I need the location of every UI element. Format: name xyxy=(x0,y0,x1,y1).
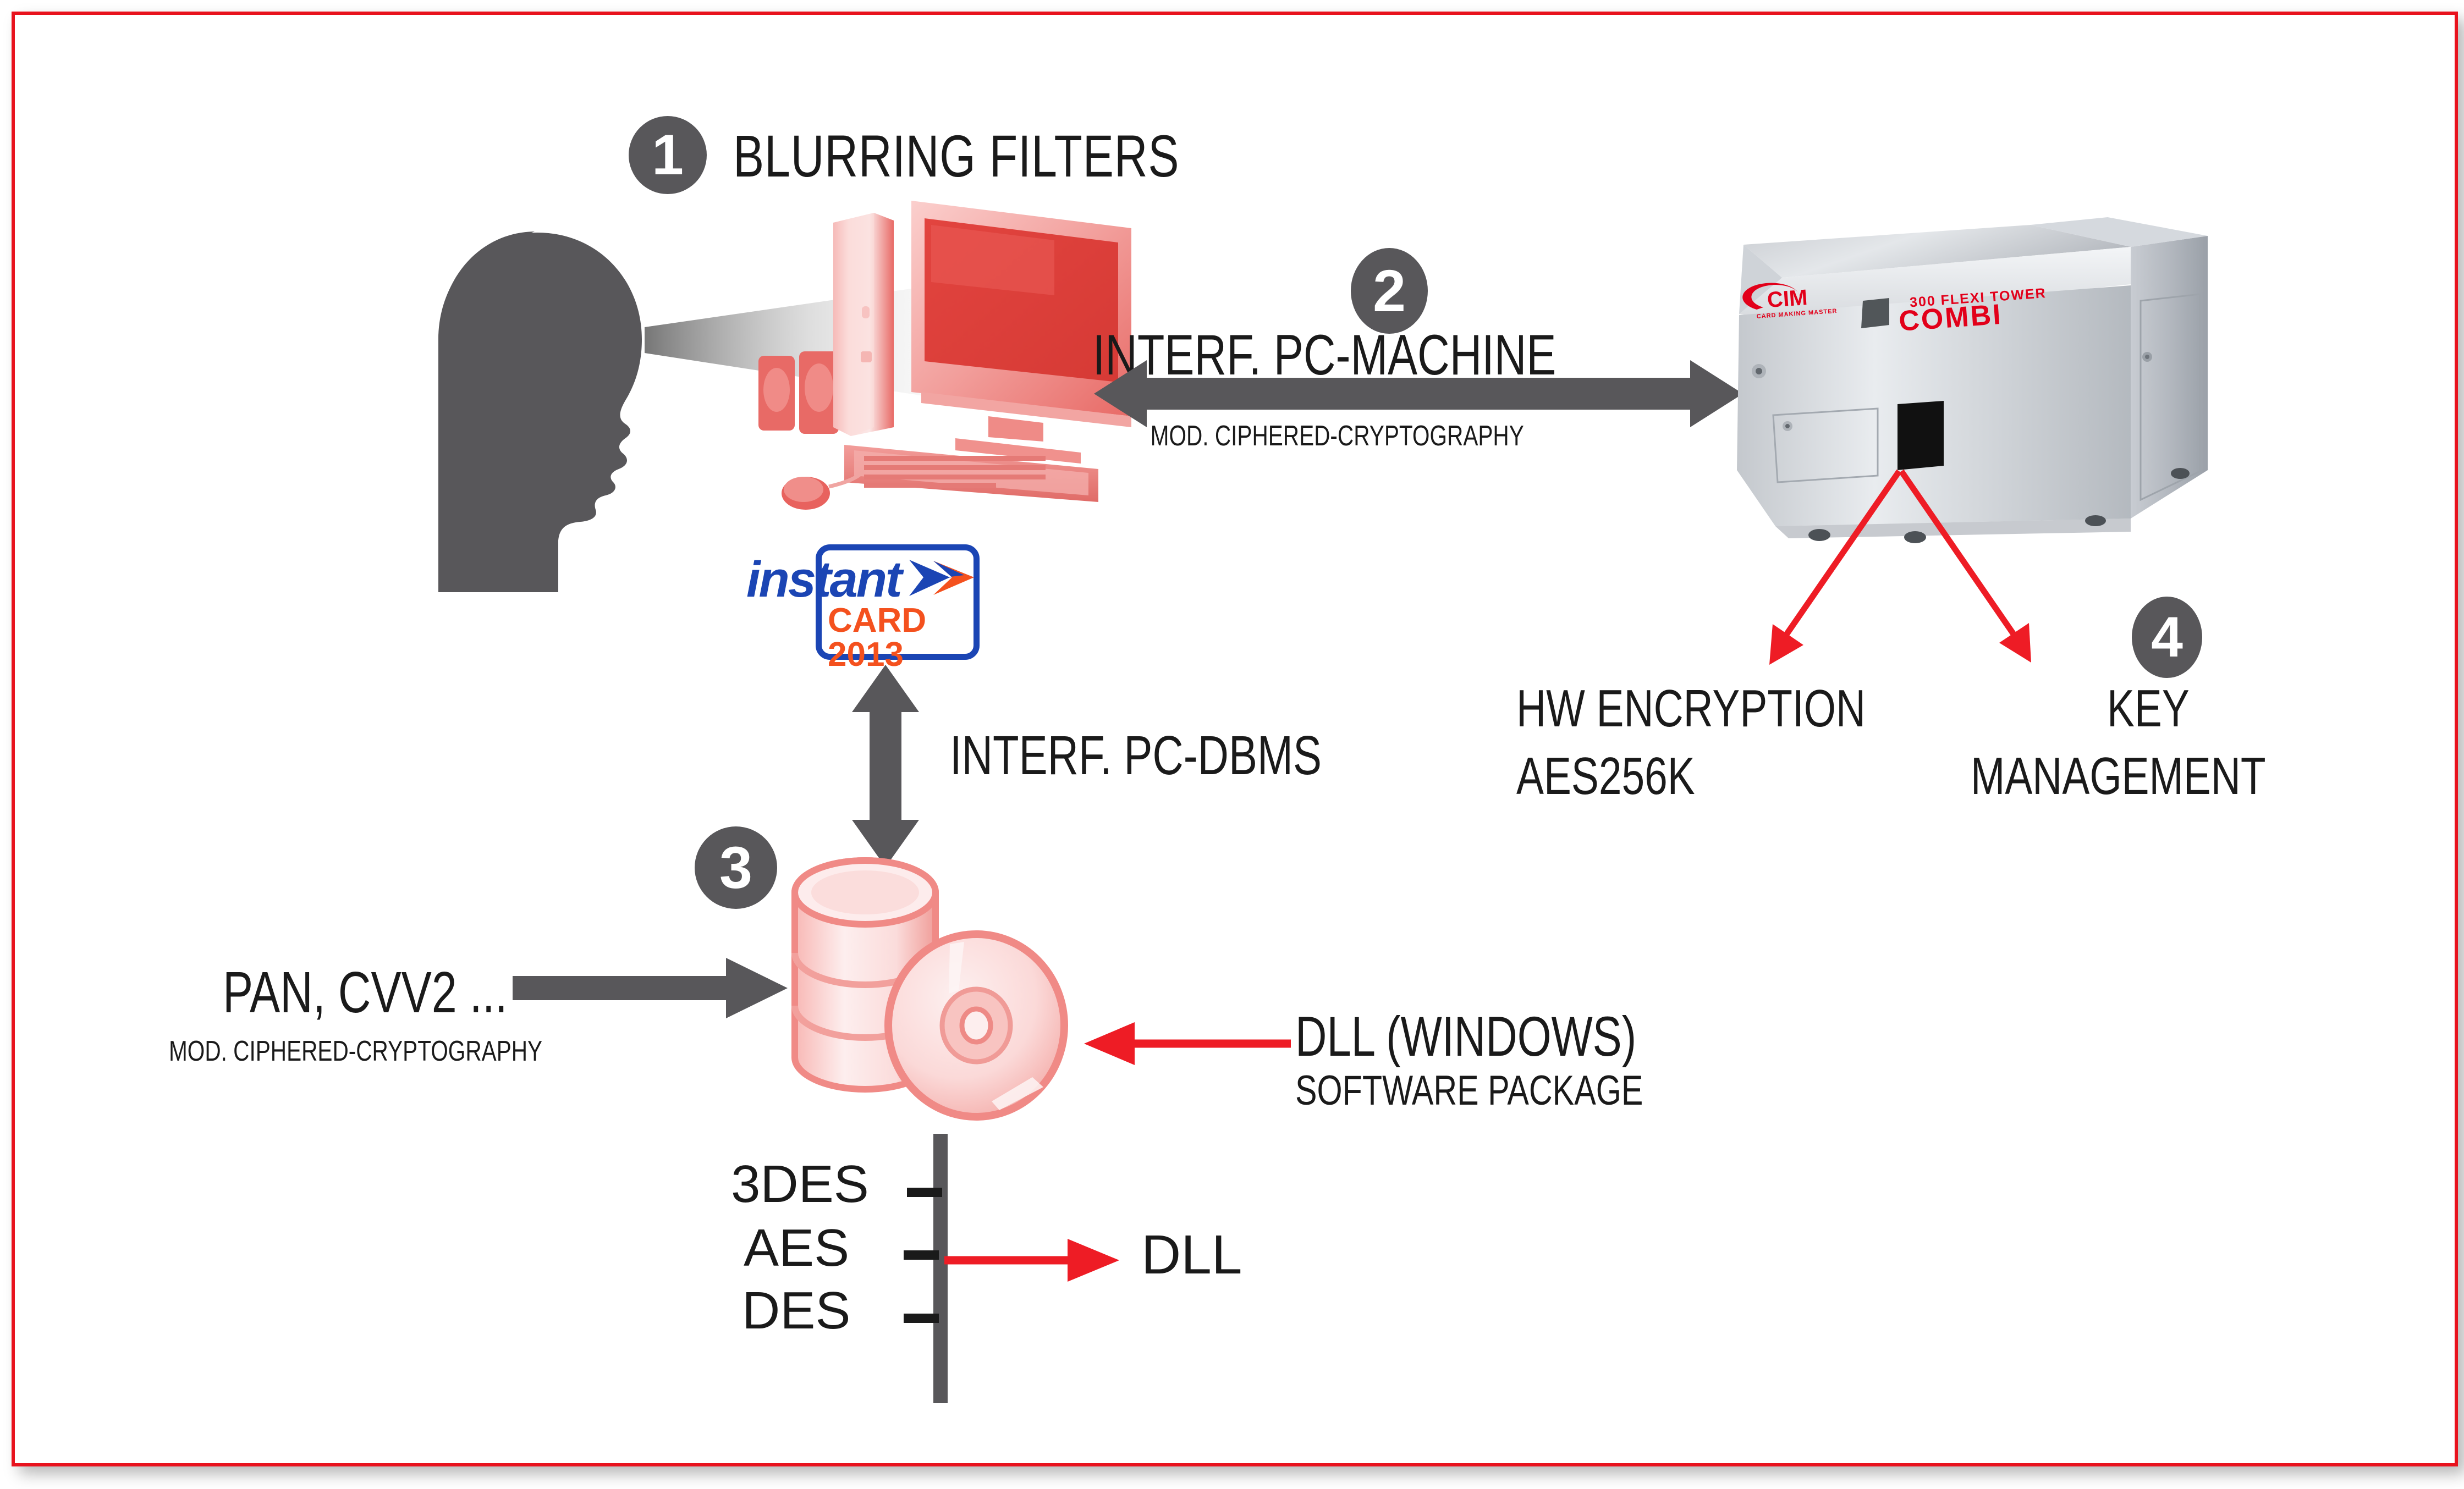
arrow-cipher-to-dll xyxy=(944,1236,1126,1285)
cipher-label-3des: 3DES xyxy=(731,1154,869,1215)
label-dll-out: DLL xyxy=(1141,1223,1242,1287)
arrow-pc-dbms xyxy=(852,665,919,867)
step-badge-1-number: 1 xyxy=(652,126,684,184)
label-software-package: SOFTWARE PACKAGE xyxy=(1295,1067,1643,1115)
diagram-frame: 1 BLURRING FILTERS xyxy=(12,12,2458,1466)
label-blurring-filters: BLURRING FILTERS xyxy=(733,122,1179,190)
label-key-management: MANAGEMENT xyxy=(1971,746,2266,807)
arrow-pan-to-database xyxy=(513,958,788,1018)
step-badge-2-number: 2 xyxy=(1373,261,1406,321)
arrow-dll-windows xyxy=(1076,1020,1291,1067)
step-badge-2: 2 xyxy=(1351,248,1428,334)
step-badge-4: 4 xyxy=(2132,597,2202,678)
label-interf-pc-dbms: INTERF. PC-DBMS xyxy=(950,724,1322,787)
step-badge-3: 3 xyxy=(695,826,777,909)
label-dll-windows: DLL (WINDOWS) xyxy=(1295,1005,1636,1069)
diagram-canvas: 1 BLURRING FILTERS xyxy=(0,0,2464,1489)
label-pan-cvv2: PAN, CVV2 ... xyxy=(223,959,508,1026)
arrow-hw-encryption xyxy=(1736,460,2121,691)
label-mod-ciphered-bottom: MOD. CIPHERED-CRYPTOGRAPHY xyxy=(169,1035,542,1068)
label-aes256k: AES256K xyxy=(1516,746,1695,807)
instant-card-logo: instant CARD 2013 xyxy=(746,544,983,654)
logo-arrow-icon xyxy=(907,559,975,598)
cipher-label-des: DES xyxy=(742,1281,850,1341)
database-disc-icon xyxy=(785,856,1076,1126)
step-badge-4-number: 4 xyxy=(2151,609,2183,666)
label-mod-ciphered-top: MOD. CIPHERED-CRYPTOGRAPHY xyxy=(1151,420,1524,453)
label-key: KEY xyxy=(2107,679,2190,739)
step-badge-1: 1 xyxy=(629,116,707,194)
desktop-computer-icon xyxy=(746,196,1142,537)
logo-card-year-text: CARD 2013 xyxy=(828,604,983,672)
cipher-label-aes: AES xyxy=(744,1218,849,1278)
step-badge-3-number: 3 xyxy=(719,838,752,897)
label-hw-encryption: HW ENCRYPTION xyxy=(1516,679,1866,739)
logo-instant-text: instant xyxy=(746,554,901,605)
arrow-pc-machine xyxy=(1094,360,1743,427)
svg-text:CIM: CIM xyxy=(1767,285,1808,312)
